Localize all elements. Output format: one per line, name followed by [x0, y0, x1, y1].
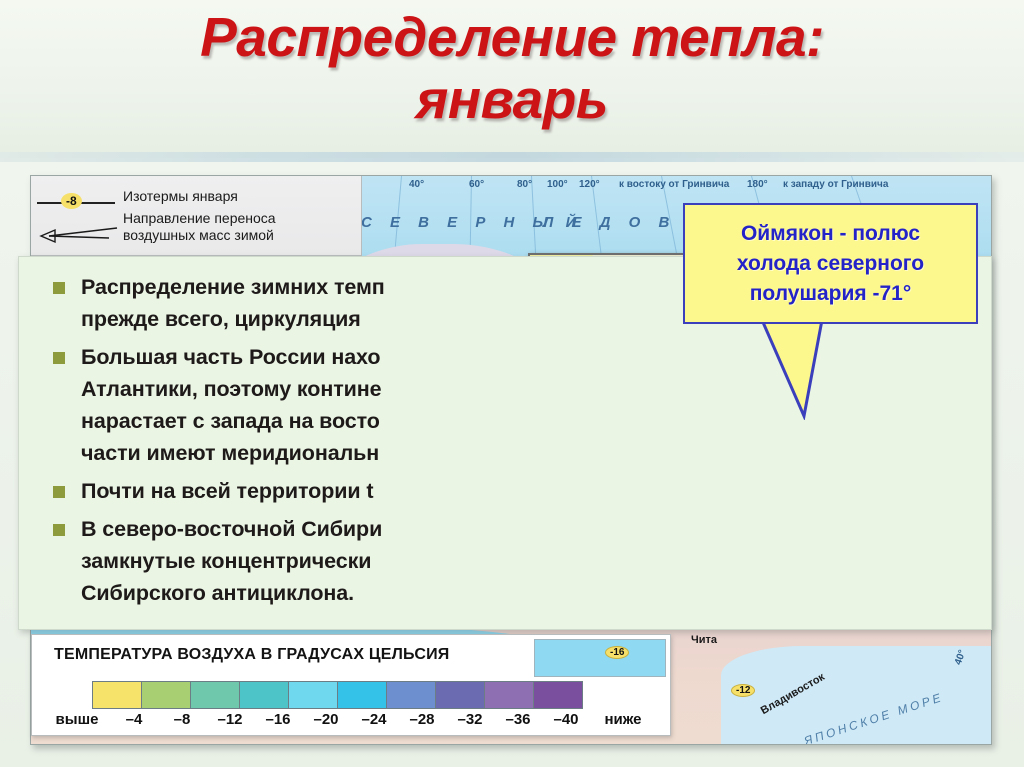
temperature-swatch-8: [484, 681, 534, 709]
bullet-text: В северо-восточной Сибири замкнутые конц…: [81, 513, 382, 609]
legend-item-isotherms: Изотермы января: [123, 188, 276, 205]
lon-label-west-of-greenwich: к западу от Гринвича: [783, 179, 888, 190]
bullet-text: Большая часть России нахо Атлантики, поэ…: [81, 341, 382, 469]
slide-root: Распределение тепла: январь 20° 40° 60° …: [0, 0, 1024, 767]
page-title: Распределение тепла: январь: [0, 6, 1024, 130]
map-legend-box: -8 Изотермы января Направление переноса …: [31, 176, 362, 256]
temperature-swatch-4: [288, 681, 338, 709]
lon-label-100: 100°: [547, 179, 568, 190]
lon-label-40: 40°: [409, 179, 424, 190]
temperature-scale-labels: выше –4–8–12–16–20–24–28–32–36–40ниже: [44, 711, 664, 728]
lon-label-180: 180°: [747, 179, 768, 190]
scale-tick-7: –32: [446, 711, 494, 728]
bullet-text: Почти на всей территории t: [81, 475, 373, 507]
callout-oymyakon: Оймякон - полюс холода северного полушар…: [683, 203, 978, 324]
temperature-swatch-0: [92, 681, 142, 709]
list-item: Почти на всей территории t: [53, 475, 991, 507]
bullet-square-icon: [53, 486, 65, 498]
bullet-text: Распределение зимних темп прежде всего, …: [81, 271, 385, 335]
temperature-swatch-2: [190, 681, 240, 709]
scale-tick-5: –24: [350, 711, 398, 728]
scale-tick-9: –40: [542, 711, 590, 728]
temperature-swatch-row: [92, 681, 582, 709]
lon-label-east-of-greenwich: к востоку от Гринвича: [619, 179, 729, 190]
list-item: В северо-восточной Сибири замкнутые конц…: [53, 513, 991, 609]
scale-label-above: выше: [44, 711, 110, 728]
scale-tick-6: –28: [398, 711, 446, 728]
legend-symbols: -8: [31, 176, 123, 255]
title-divider: [0, 152, 1024, 162]
city-label-chita: Чита: [691, 634, 717, 646]
bullet-square-icon: [53, 524, 65, 536]
wind-arrow-icon: [39, 224, 119, 244]
lon-label-120: 120°: [579, 179, 600, 190]
isotherm-value-badge: -8: [61, 193, 82, 209]
list-item: Большая часть России нахо Атлантики, поэ…: [53, 341, 991, 469]
temperature-swatch-7: [435, 681, 485, 709]
temperature-swatch-6: [386, 681, 436, 709]
scale-tick-4: –20: [302, 711, 350, 728]
temperature-scale-strip: ТЕМПЕРАТУРА ВОЗДУХА В ГРАДУСАХ ЦЕЛЬСИЯ -…: [31, 634, 671, 736]
scale-tick-3: –16: [254, 711, 302, 728]
scale-tick-2: –12: [206, 711, 254, 728]
scale-label-below: ниже: [590, 711, 656, 728]
temperature-swatch-1: [141, 681, 191, 709]
bullet-square-icon: [53, 282, 65, 294]
callout-pointer: [760, 320, 840, 420]
legend-item-air-mass-direction: Направление переноса воздушных масс зимо…: [123, 210, 276, 244]
lon-label-80: 80°: [517, 179, 532, 190]
scale-tick-8: –36: [494, 711, 542, 728]
bullet-square-icon: [53, 352, 65, 364]
temperature-scale-title: ТЕМПЕРАТУРА ВОЗДУХА В ГРАДУСАХ ЦЕЛЬСИЯ: [54, 646, 450, 664]
temperature-strip-inset-map: -16: [534, 639, 666, 677]
temperature-swatch-9: [533, 681, 583, 709]
legend-text-list: Изотермы января Направление переноса воз…: [123, 188, 276, 244]
lon-label-60: 60°: [469, 179, 484, 190]
scale-tick-0: –4: [110, 711, 158, 728]
isotherm-pill-16-inset: -16: [605, 646, 629, 659]
scale-tick-1: –8: [158, 711, 206, 728]
temperature-swatch-3: [239, 681, 289, 709]
temperature-swatch-5: [337, 681, 387, 709]
